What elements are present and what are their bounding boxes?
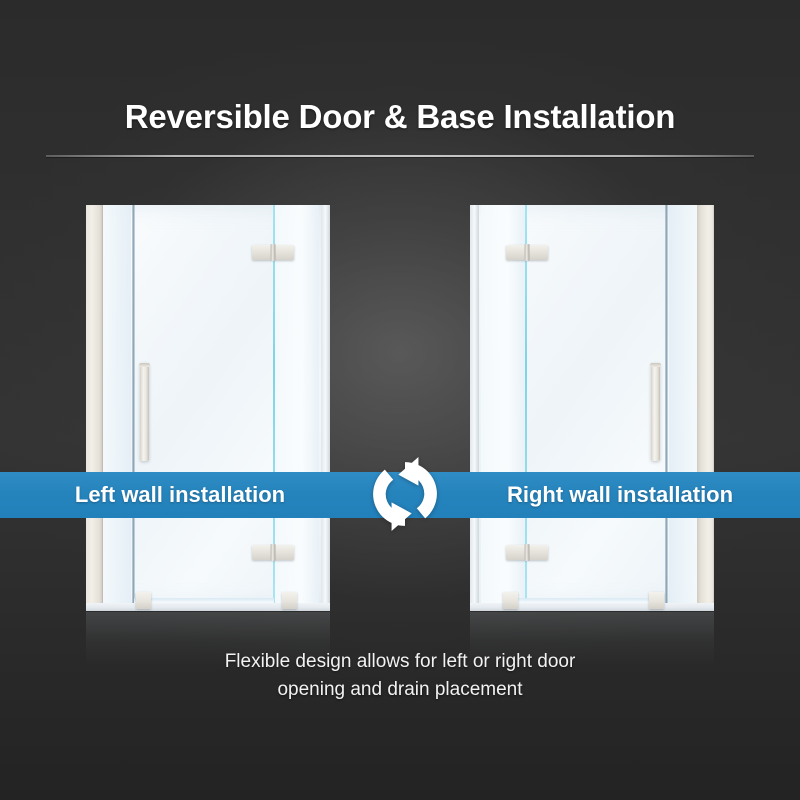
- door-handle-right: [651, 363, 660, 461]
- caption-block: Flexible design allows for left or right…: [0, 648, 800, 704]
- caption-line-1: Flexible design allows for left or right…: [0, 648, 800, 676]
- hinge-top-right: [506, 245, 548, 260]
- base-foot-left-2: [282, 592, 297, 609]
- base-foot-right-1: [649, 592, 664, 609]
- outer-glass-edge-left: [321, 205, 330, 611]
- wall-mount-profile-right: [697, 205, 714, 611]
- hinge-bottom-left: [252, 545, 294, 560]
- caption-line-2: opening and drain placement: [0, 676, 800, 704]
- reversible-cycle-icon: [363, 452, 447, 536]
- door-seam-left: [132, 205, 135, 611]
- base-foot-left-1: [136, 592, 151, 609]
- page-title: Reversible Door & Base Installation: [0, 98, 800, 136]
- banner-label-left-wall: Left wall installation: [0, 472, 360, 518]
- banner-label-right-wall: Right wall installation: [440, 472, 800, 518]
- hinge-bottom-right: [506, 545, 548, 560]
- door-handle-left: [140, 363, 149, 461]
- shower-unit-right: [470, 205, 714, 611]
- product-infographic: Reversible Door & Base Installation: [0, 0, 800, 800]
- outer-glass-edge-right: [470, 205, 479, 611]
- wall-mount-profile-left: [86, 205, 103, 611]
- title-block: Reversible Door & Base Installation: [0, 98, 800, 136]
- shower-unit-left: [86, 205, 330, 611]
- door-seam-right: [665, 205, 668, 611]
- hinge-top-left: [252, 245, 294, 260]
- base-foot-right-2: [503, 592, 518, 609]
- title-divider: [46, 155, 754, 157]
